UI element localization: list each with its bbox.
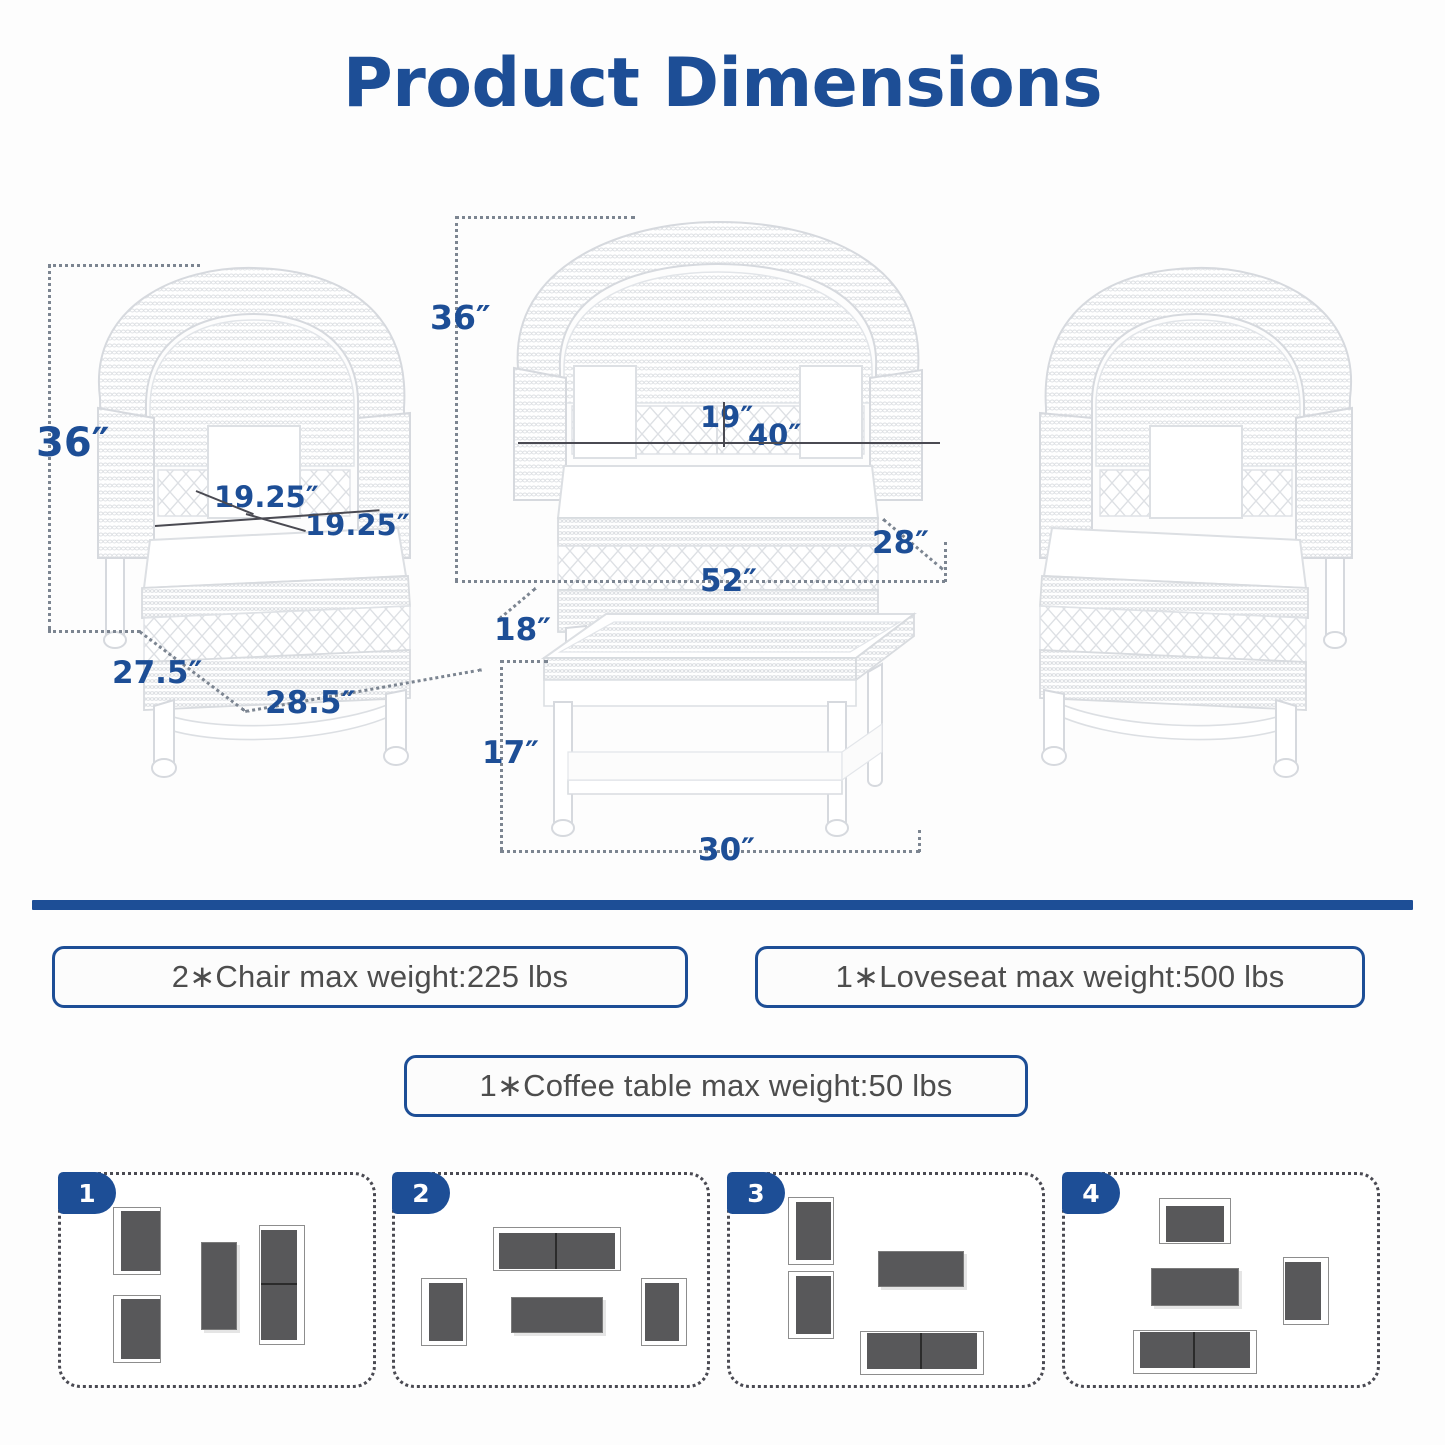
loveseat-width-guide-right [944,542,947,582]
chair-icon [1159,1198,1231,1244]
layout-option-panel-2[interactable]: 2 [392,1172,710,1388]
weight-limit-loveseat: 1∗Loveseat max weight:500 lbs [755,946,1365,1008]
coffee-table-icon [878,1251,964,1287]
dimension-diagram-area: 36″ 19.25″ 19.25″ 27.5″ 28.5″ [0,170,1445,890]
loveseat-seat-height-arrow [723,402,725,447]
chair-height-label: 36″ [36,420,110,466]
layout-stage-4 [1065,1175,1377,1385]
weight-limit-chair-label: 2∗Chair max weight:225 lbs [172,959,568,995]
coffee-table-depth-label: 18″ [494,612,551,648]
coffee-table-icon [511,1297,603,1333]
loveseat-seat-width-arrow [518,442,940,444]
loveseat-depth-label: 28″ [872,525,929,561]
loveseat-icon [1133,1330,1257,1374]
chair-height-guide-bottom [48,630,140,633]
layout-option-panel-3[interactable]: 3 [727,1172,1045,1388]
weight-limit-chair: 2∗Chair max weight:225 lbs [52,946,688,1008]
layout-stage-3 [730,1175,1042,1385]
loveseat-height-guide-top [455,216,635,219]
chair-width-label: 28.5″ [265,685,355,721]
loveseat-icon [860,1331,984,1375]
loveseat-seat-width-label: 40″ [748,418,801,452]
chair-seat-depth-label: 19.25″ [214,480,319,514]
layout-stage-1 [61,1175,373,1385]
weight-limit-coffee-table-label: 1∗Coffee table max weight:50 lbs [480,1068,953,1104]
chair-depth-label: 27.5″ [112,655,202,691]
chair-height-guide-top [48,264,200,267]
chair-icon [788,1197,834,1265]
loveseat-width-label: 52″ [700,563,757,599]
layout-option-panel-4[interactable]: 4 [1062,1172,1380,1388]
coffee-table-height-label: 17″ [482,735,539,771]
loveseat-height-label: 36″ [430,298,491,337]
chair-icon [1283,1257,1329,1325]
coffee-table-icon [1151,1268,1239,1306]
chair-right-illustration [1012,258,1392,788]
chair-icon [113,1207,161,1275]
chair-icon [641,1278,687,1346]
chair-icon [788,1271,834,1339]
loveseat-seat-height-label: 19″ [700,400,753,434]
page-title: Product Dimensions [0,44,1445,123]
coffee-table-width-label: 30″ [698,832,755,868]
loveseat-height-guide-vertical [455,216,458,581]
coffee-table-depth-guide-bottom [500,660,548,663]
coffee-table-illustration [516,602,936,862]
loveseat-icon [493,1227,621,1271]
layout-stage-2 [395,1175,707,1385]
loveseat-icon [259,1225,305,1345]
weight-limit-coffee-table: 1∗Coffee table max weight:50 lbs [404,1055,1028,1117]
weight-limit-loveseat-label: 1∗Loveseat max weight:500 lbs [836,959,1285,995]
chair-icon [421,1278,467,1346]
coffee-table-width-guide-right [918,830,921,852]
section-divider [32,900,1413,910]
product-dimensions-infographic: Product Dimensions [0,0,1445,1445]
layout-option-panel-1[interactable]: 1 [58,1172,376,1388]
coffee-table-icon [201,1242,237,1330]
chair-icon [113,1295,161,1363]
